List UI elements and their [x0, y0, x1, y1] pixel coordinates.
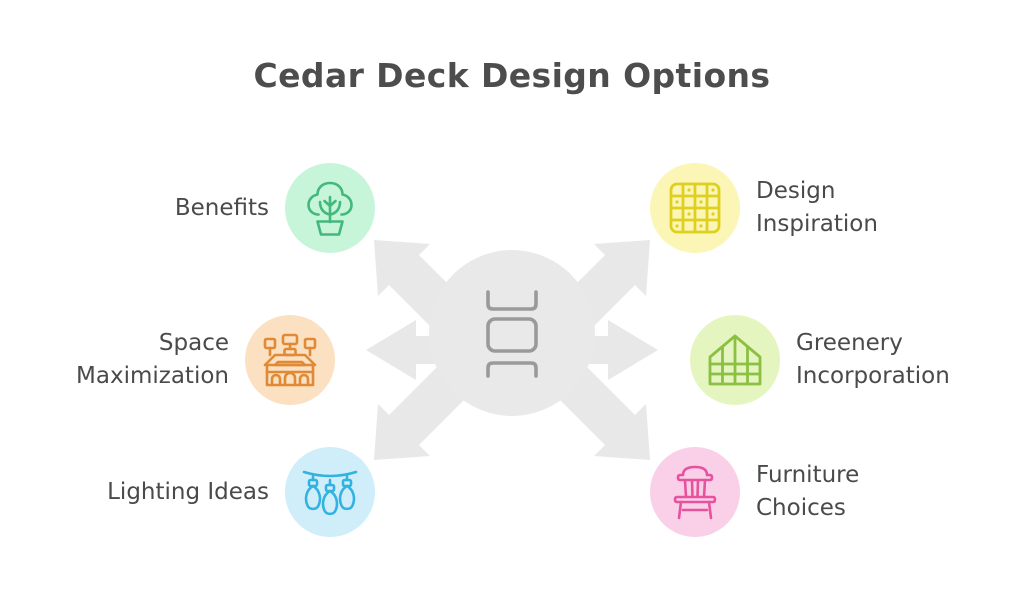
greenhouse-icon — [706, 333, 764, 387]
node-lighting-ideas-label: Lighting Ideas — [107, 476, 269, 509]
node-greenery-incorporation-label: Greenery Incorporation — [796, 327, 950, 392]
potted-tree-icon — [302, 179, 358, 237]
node-furniture-choices-label: Furniture Choices — [756, 459, 859, 524]
node-space-maximization-label: Space Maximization — [76, 327, 229, 392]
node-space-maximization[interactable]: Space Maximization — [0, 315, 335, 405]
string-lights-icon — [301, 466, 359, 518]
page-title: Cedar Deck Design Options — [0, 56, 1024, 95]
infographic-canvas: Cedar Deck Design Options — [0, 0, 1024, 614]
node-benefits[interactable]: Benefits — [0, 163, 375, 253]
node-benefits-label: Benefits — [175, 192, 269, 225]
node-benefits-badge[interactable] — [285, 163, 375, 253]
node-greenery-incorporation-badge[interactable] — [690, 315, 780, 405]
chair-icon — [671, 463, 719, 521]
node-greenery-incorporation[interactable]: Greenery Incorporation — [690, 315, 1024, 405]
node-design-inspiration[interactable]: Design Inspiration — [650, 163, 1024, 253]
deck-boards-icon — [472, 288, 552, 380]
node-design-inspiration-label: Design Inspiration — [756, 175, 878, 240]
tile-grid-icon — [668, 181, 722, 235]
node-lighting-ideas-badge[interactable] — [285, 447, 375, 537]
node-furniture-choices-badge[interactable] — [650, 447, 740, 537]
node-lighting-ideas[interactable]: Lighting Ideas — [0, 447, 375, 537]
pavilion-icon — [261, 332, 319, 388]
node-space-maximization-badge[interactable] — [245, 315, 335, 405]
node-design-inspiration-badge[interactable] — [650, 163, 740, 253]
node-furniture-choices[interactable]: Furniture Choices — [650, 447, 1024, 537]
